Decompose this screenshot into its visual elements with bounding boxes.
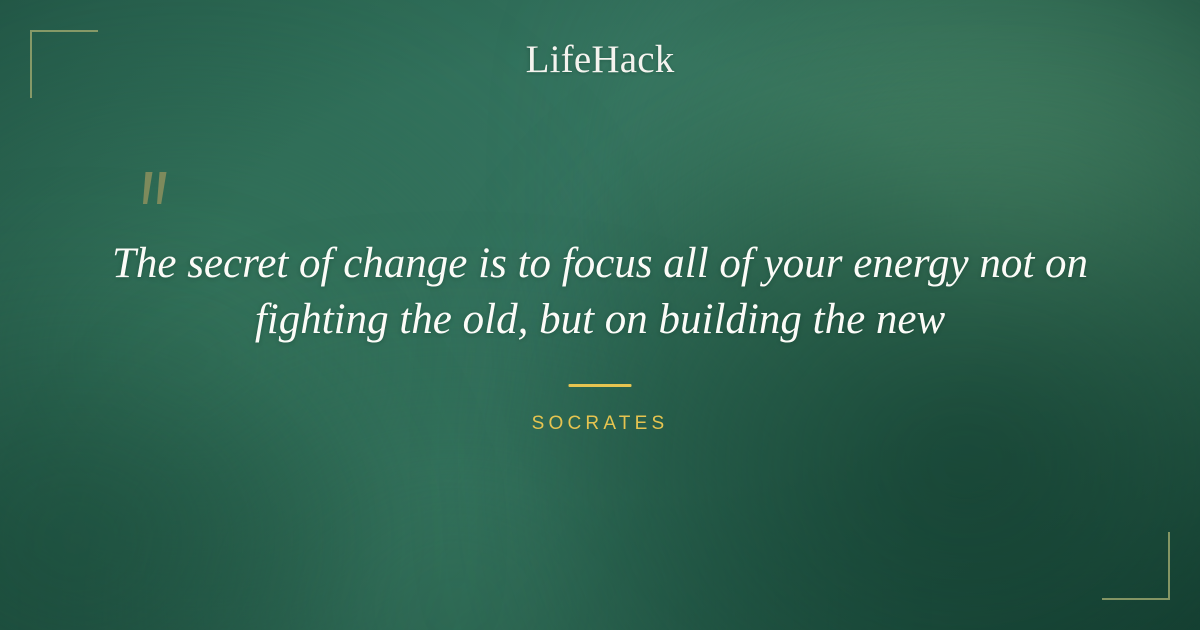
- card-content: LifeHack The secret of change is to focu…: [0, 0, 1200, 630]
- quote-card: LifeHack The secret of change is to focu…: [0, 0, 1200, 630]
- quote-line-2: fighting the old, but on building the ne…: [100, 292, 1100, 348]
- author-divider: [569, 384, 632, 387]
- quote-line-1: The secret of change is to focus all of …: [100, 236, 1100, 292]
- author-attribution: SOCRATES: [0, 414, 1200, 433]
- quotation-mark-icon: [134, 170, 178, 216]
- quote-text: The secret of change is to focus all of …: [100, 236, 1100, 348]
- brand-logo: LifeHack: [0, 40, 1200, 79]
